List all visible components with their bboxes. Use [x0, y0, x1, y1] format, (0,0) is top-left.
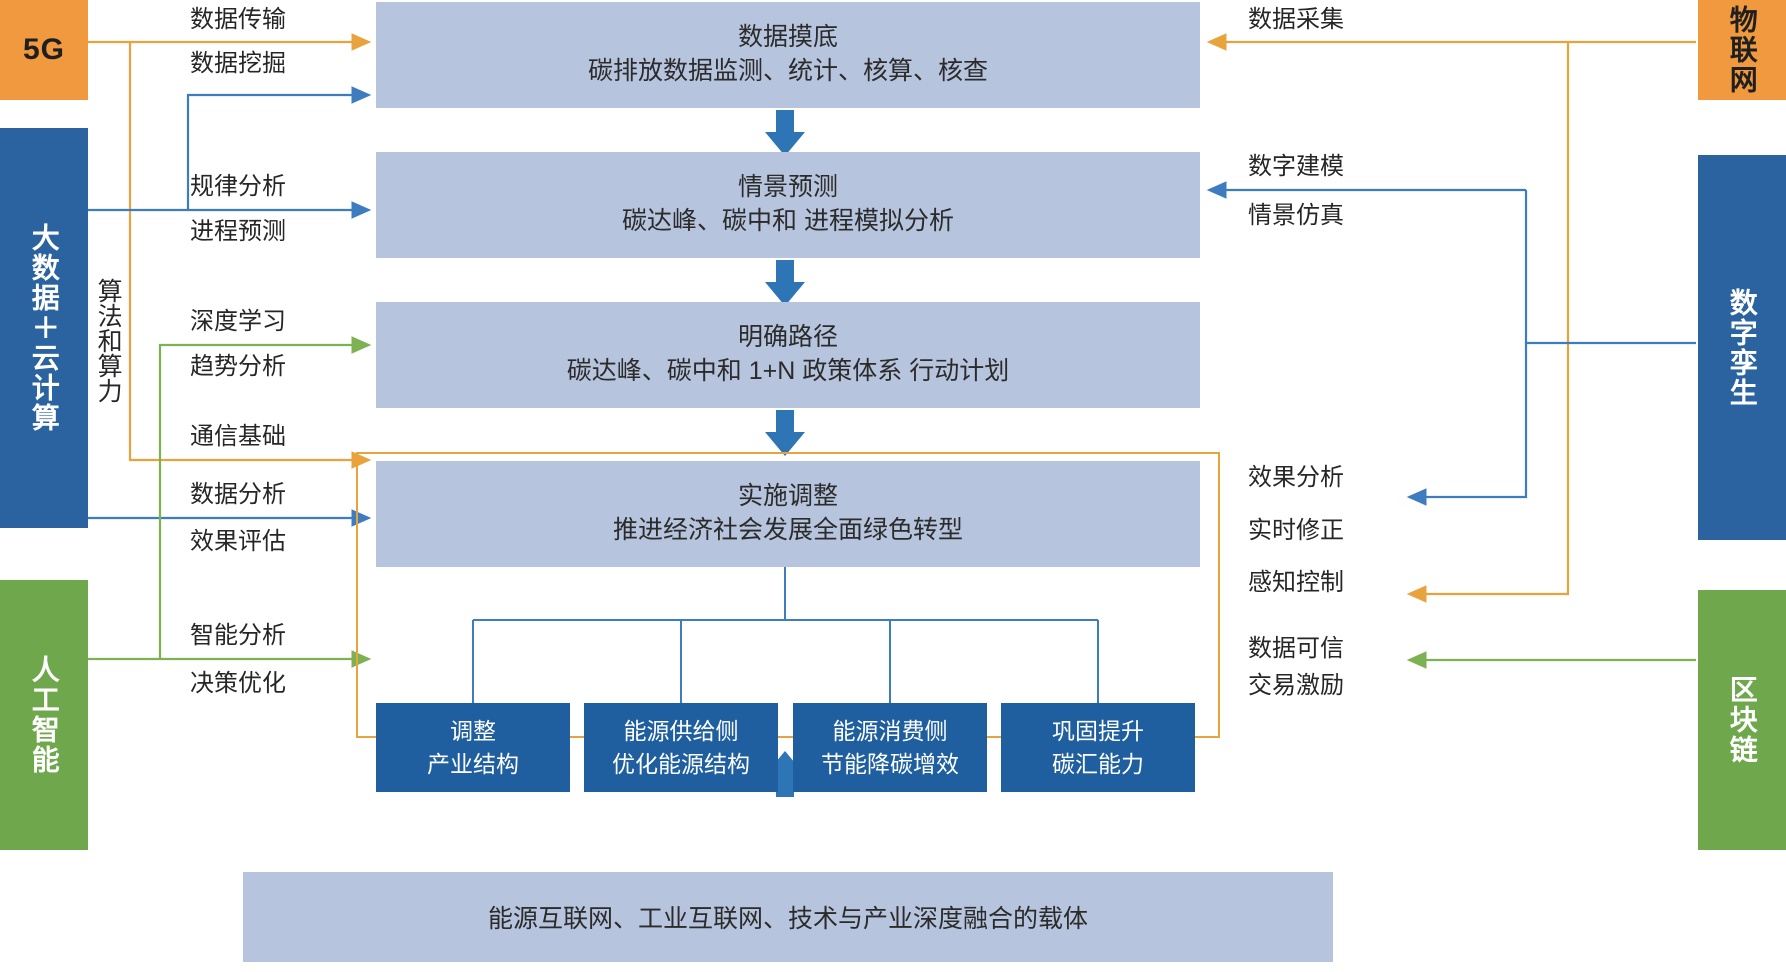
subbox-energy-consumption-side[interactable]: 能源消费侧 节能降碳增效 — [793, 703, 987, 792]
pillar-5g-label: 5G — [23, 34, 65, 66]
stage-scenario-forecast-title: 情景预测 — [738, 171, 838, 205]
subbox-carbon-sink-line2: 碳汇能力 — [1052, 748, 1144, 780]
label-digital-modeling: 数字建模 — [1248, 155, 1344, 179]
subbox-carbon-sink[interactable]: 巩固提升 碳汇能力 — [1001, 703, 1195, 792]
label-scenario-simulation: 情景仿真 — [1248, 204, 1344, 228]
label-data-collection: 数据采集 — [1248, 8, 1344, 32]
left-side-note: 算法和算力 — [90, 230, 126, 450]
stage-scenario-forecast-subtitle: 碳达峰、碳中和 进程模拟分析 — [622, 205, 954, 239]
stage-data-survey-subtitle: 碳排放数据监测、统计、核算、核查 — [588, 55, 988, 89]
label-decision-optimization: 决策优化 — [190, 672, 286, 696]
subbox-carbon-sink-line1: 巩固提升 — [1052, 715, 1144, 747]
stage-implement-adjust[interactable]: 实施调整 推进经济社会发展全面绿色转型 — [376, 461, 1200, 567]
pillar-bigdata-cloud-label: 大数据＋云计算 — [29, 223, 58, 433]
pillar-iot-label: 物联网 — [1727, 5, 1756, 95]
pillar-iot[interactable]: 物联网 — [1698, 0, 1786, 100]
label-effect-analysis: 效果分析 — [1248, 466, 1344, 490]
subbox-energy-consumption-side-line2: 节能降碳增效 — [821, 748, 959, 780]
subbox-energy-supply-side-line1: 能源供给侧 — [624, 715, 739, 747]
left-side-note-label: 算法和算力 — [95, 278, 121, 403]
label-pattern-analysis: 规律分析 — [190, 175, 286, 199]
subbox-energy-consumption-side-line1: 能源消费侧 — [833, 715, 948, 747]
pillar-blockchain[interactable]: 区块链 — [1698, 590, 1786, 850]
pillar-5g[interactable]: 5G — [0, 0, 88, 100]
stage-clear-path-subtitle: 碳达峰、碳中和 1+N 政策体系 行动计划 — [567, 355, 1009, 389]
bottom-carrier-bar-label: 能源互联网、工业互联网、技术与产业深度融合的载体 — [488, 899, 1088, 935]
label-data-mining: 数据挖掘 — [190, 52, 286, 76]
bottom-carrier-bar[interactable]: 能源互联网、工业互联网、技术与产业深度融合的载体 — [243, 872, 1333, 962]
subbox-energy-supply-side[interactable]: 能源供给侧 优化能源结构 — [584, 703, 778, 792]
label-data-transmission: 数据传输 — [190, 8, 286, 32]
pillar-ai-label: 人工智能 — [29, 655, 58, 775]
pillar-digital-twin-label: 数字孪生 — [1727, 288, 1756, 408]
label-intelligent-analysis: 智能分析 — [190, 624, 286, 648]
pillar-digital-twin[interactable]: 数字孪生 — [1698, 155, 1786, 540]
stage-data-survey[interactable]: 数据摸底 碳排放数据监测、统计、核算、核查 — [376, 2, 1200, 108]
label-effect-evaluation: 效果评估 — [190, 530, 286, 554]
label-process-forecast: 进程预测 — [190, 220, 286, 244]
pillar-bigdata-cloud[interactable]: 大数据＋云计算 — [0, 128, 88, 528]
subbox-industry-structure-line2: 产业结构 — [427, 748, 519, 780]
label-deep-learning: 深度学习 — [190, 310, 286, 334]
subbox-energy-supply-side-line2: 优化能源结构 — [612, 748, 750, 780]
label-realtime-correction: 实时修正 — [1248, 519, 1344, 543]
stage-implement-adjust-title: 实施调整 — [738, 480, 838, 514]
label-trend-analysis: 趋势分析 — [190, 355, 286, 379]
subbox-industry-structure-line1: 调整 — [450, 715, 496, 747]
label-data-analysis: 数据分析 — [190, 483, 286, 507]
diagram-canvas: 5G 大数据＋云计算 人工智能 算法和算力 物联网 数字孪生 区块链 数据传输 … — [0, 0, 1786, 972]
stage-clear-path[interactable]: 明确路径 碳达峰、碳中和 1+N 政策体系 行动计划 — [376, 302, 1200, 408]
pillar-blockchain-label: 区块链 — [1727, 675, 1756, 765]
label-data-trustworthy: 数据可信 — [1248, 637, 1344, 661]
label-transaction-incentive: 交易激励 — [1248, 674, 1344, 698]
subbox-industry-structure[interactable]: 调整 产业结构 — [376, 703, 570, 792]
stage-scenario-forecast[interactable]: 情景预测 碳达峰、碳中和 进程模拟分析 — [376, 152, 1200, 258]
stage-clear-path-title: 明确路径 — [738, 321, 838, 355]
pillar-ai[interactable]: 人工智能 — [0, 580, 88, 850]
label-perception-control: 感知控制 — [1248, 571, 1344, 595]
stage-implement-adjust-subtitle: 推进经济社会发展全面绿色转型 — [613, 514, 963, 548]
stage-data-survey-title: 数据摸底 — [738, 21, 838, 55]
label-comm-infrastructure: 通信基础 — [190, 425, 286, 449]
